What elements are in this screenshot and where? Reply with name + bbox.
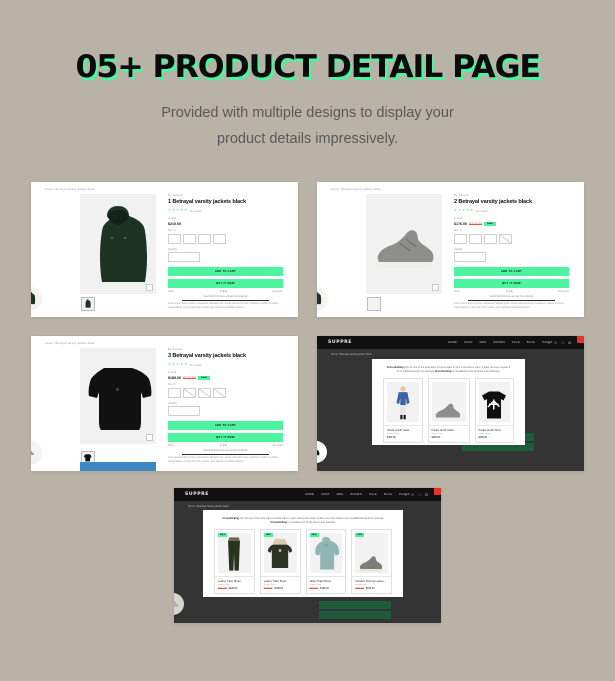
site-dimmed-background: SUPPRE HOME SHOP MEN WOMEN SALE BLOG PAG… bbox=[317, 336, 584, 471]
zoom-icon[interactable] bbox=[432, 284, 439, 291]
add-to-cart-button[interactable]: ADD TO CART bbox=[168, 421, 283, 430]
availability-label: In stock bbox=[168, 217, 283, 220]
product-vendor: Suppre Store bbox=[264, 584, 297, 586]
product-gallery[interactable] bbox=[80, 348, 156, 444]
search-icon[interactable]: ⌕ bbox=[548, 341, 550, 345]
price-original: $210.00 bbox=[355, 587, 364, 590]
product-image bbox=[432, 382, 466, 422]
product-price: $189.00 $210.00 SALE bbox=[168, 376, 283, 380]
pants-green-icon bbox=[222, 535, 246, 573]
heart-icon[interactable]: ♡ bbox=[561, 341, 564, 345]
site-nav[interactable]: HOME SHOP MEN WOMEN SALE BLOG PAGES bbox=[305, 493, 409, 496]
quantity-label: Quantity bbox=[454, 248, 569, 251]
size-guide-link[interactable]: Size guide bbox=[558, 291, 569, 293]
poster-page: 05+ PRODUCT DETAIL PAGE 05+ PRODUCT DETA… bbox=[0, 0, 615, 681]
pdp-layout: Home / Betrayal varsity jackets black By… bbox=[31, 182, 298, 317]
sneaker-gray-icon bbox=[432, 400, 466, 422]
modal-product-card[interactable]: SALE Sneakers Running Leather... Suppre … bbox=[351, 529, 392, 594]
size-option-xl-disabled bbox=[499, 234, 512, 244]
nav-item-home[interactable]: HOME bbox=[305, 493, 314, 496]
status-badge: SALE bbox=[218, 533, 227, 537]
shipping-note: Spend $100.00 more and get free shipping… bbox=[168, 296, 283, 298]
modal-body-3: is bbox=[451, 370, 454, 373]
nav-item-women[interactable]: WOMEN bbox=[350, 493, 362, 496]
breadcrumb[interactable]: Home / Betrayal varsity jackets black bbox=[188, 505, 229, 508]
status-badge: SALE bbox=[310, 533, 319, 537]
price-current: $189.00 bbox=[168, 376, 181, 380]
star-icon: ★ bbox=[184, 363, 187, 367]
mockup-card-3[interactable]: Home / Betrayal varsity jackets black By… bbox=[31, 336, 298, 471]
availability-label: In stock bbox=[454, 217, 569, 220]
price-original: $210.00 bbox=[310, 587, 319, 590]
model-jacket-icon bbox=[392, 384, 414, 422]
modal-product-cards: Hoodie Grooff Yellow Suppre Store $189.0… bbox=[372, 378, 525, 443]
hoodie-dark-green-icon bbox=[317, 290, 323, 306]
site-header: SUPPRE HOME SHOP MEN WOMEN SALE BLOG PAG… bbox=[317, 336, 584, 349]
modal-lead: Crossdocking bbox=[222, 517, 239, 520]
product-price: $189.00 bbox=[479, 436, 511, 439]
product-title: Jacket Trailer Brown bbox=[310, 580, 343, 583]
product-title: Leather Trailer Brown bbox=[218, 580, 251, 583]
nav-item-shop[interactable]: SHOP bbox=[464, 341, 473, 344]
size-option-m-disabled bbox=[183, 388, 196, 398]
add-to-cart-button[interactable]: ADD TO CART bbox=[168, 267, 283, 276]
nav-item-home[interactable]: HOME bbox=[448, 341, 457, 344]
product-price: $210.00 $189.00 bbox=[310, 587, 343, 590]
cart-icon[interactable]: ⛁ bbox=[568, 341, 571, 345]
product-price: $210.00 $189.00 bbox=[264, 587, 297, 590]
product-gallery[interactable] bbox=[366, 194, 442, 294]
size-option-l-disabled bbox=[198, 388, 211, 398]
product-image bbox=[479, 382, 511, 422]
product-meta: Hoodie Grooff Yellow Suppre Store $189.0… bbox=[476, 425, 514, 442]
price-original: $210.00 bbox=[264, 587, 273, 590]
quantity-stepper[interactable] bbox=[454, 252, 486, 262]
product-vendor: Suppre Store bbox=[310, 584, 343, 586]
nav-item-men[interactable]: MEN bbox=[480, 341, 487, 344]
status-badge: SALE bbox=[355, 533, 364, 537]
price-current: $189.00 bbox=[387, 436, 396, 439]
corner-marker bbox=[577, 336, 584, 343]
share-label: Share: bbox=[168, 445, 175, 447]
site-dimmed-background: SUPPRE HOME SHOP MEN WOMEN SALE BLOG PAG… bbox=[174, 488, 441, 623]
modal-product-card[interactable]: Hoodie Grooff Yellow Suppre Store $189.0… bbox=[428, 378, 470, 443]
status-badge: SALE bbox=[198, 376, 210, 380]
user-icon[interactable]: ⚇ bbox=[554, 341, 557, 345]
star-icon: ★ bbox=[180, 363, 183, 367]
social-icons[interactable]: f t p in bbox=[506, 291, 512, 293]
mockup-card-1[interactable]: Home / Betrayal varsity jackets black By… bbox=[31, 182, 298, 317]
buy-now-button[interactable]: BUY IT NOW bbox=[454, 279, 569, 288]
size-options[interactable] bbox=[454, 234, 569, 244]
hoodie-thumb-icon bbox=[82, 298, 93, 309]
search-icon[interactable]: ⌕ bbox=[405, 493, 407, 497]
header-icons[interactable]: ⌕ ⚇ ♡ ⛁ bbox=[405, 493, 428, 497]
social-icons[interactable]: f t p in bbox=[220, 291, 226, 293]
size-option-l[interactable] bbox=[484, 234, 497, 244]
breadcrumb[interactable]: Home / Betrayal varsity jackets black bbox=[45, 342, 95, 345]
product-title: Leather Trailer Brown bbox=[264, 580, 297, 583]
nav-item-sale[interactable]: SALE bbox=[512, 341, 520, 344]
progress-divider bbox=[182, 300, 269, 301]
price-original: $210.00 bbox=[183, 376, 196, 380]
price-current: $189.00 bbox=[274, 587, 283, 590]
review-count: No reviews bbox=[190, 210, 202, 213]
promo-banner[interactable] bbox=[80, 462, 156, 471]
rating[interactable]: ★ ★ ★ ★ ★ No reviews bbox=[168, 209, 283, 213]
sweatshirt-black-icon bbox=[80, 348, 156, 444]
product-title: 3 Betrayal varsity jackets black bbox=[168, 353, 283, 359]
modal-product-card[interactable]: Hoodie Grooff Yellow Suppre Store $189.0… bbox=[383, 378, 423, 443]
star-icon: ★ bbox=[176, 363, 179, 367]
product-price: $189.00 bbox=[387, 436, 419, 439]
star-icon: ★ bbox=[168, 209, 171, 213]
shipping-note: Spend $100.00 more and get free shipping… bbox=[454, 296, 569, 298]
product-info: By Suppre 2 Betrayal varsity jackets bla… bbox=[454, 194, 569, 310]
product-vendor: Suppre Store bbox=[479, 433, 511, 435]
product-meta: Sneakers Running Leather... Suppre Store… bbox=[352, 576, 391, 593]
product-vendor: Suppre Store bbox=[387, 433, 419, 435]
nav-item-sale[interactable]: SALE bbox=[369, 493, 377, 496]
add-to-cart-button[interactable]: ADD TO CART bbox=[454, 267, 569, 276]
product-vendor: By Suppre bbox=[168, 194, 283, 197]
product-description: Lorem ipsum dolor sit amet, consectetur … bbox=[454, 303, 569, 310]
modal-lead-2: Crossdocking bbox=[270, 521, 287, 524]
size-options[interactable] bbox=[168, 234, 283, 244]
product-image bbox=[218, 533, 251, 573]
product-image bbox=[264, 533, 297, 573]
status-badge: SALE bbox=[484, 222, 496, 226]
quantity-label: Quantity bbox=[168, 402, 283, 405]
hoodie-dark-green-icon bbox=[80, 194, 156, 294]
product-meta: Hoodie Grooff Yellow Suppre Store $189.0… bbox=[429, 425, 469, 442]
product-title: Sneakers Running Leather... bbox=[355, 580, 388, 583]
breadcrumb[interactable]: Home / Betrayal varsity jackets black bbox=[331, 353, 372, 356]
star-icon: ★ bbox=[176, 209, 179, 213]
quantity-label: Quantity bbox=[168, 248, 283, 251]
size-option-s[interactable] bbox=[168, 234, 181, 244]
price-current: $189.00 bbox=[366, 587, 375, 590]
buy-now-button[interactable]: BUY IT NOW bbox=[168, 433, 283, 442]
price-current: $189.00 bbox=[229, 587, 238, 590]
product-price: $210.00 $189.00 bbox=[355, 587, 388, 590]
nav-item-shop[interactable]: SHOP bbox=[321, 493, 330, 496]
size-option-s[interactable] bbox=[454, 234, 467, 244]
product-title: 2 Betrayal varsity jackets black bbox=[454, 199, 569, 205]
star-icon: ★ bbox=[454, 209, 457, 213]
star-icon: ★ bbox=[466, 209, 469, 213]
size-option-xl-disabled bbox=[213, 388, 226, 398]
size-guide-link[interactable]: Size guide bbox=[272, 291, 283, 293]
breadcrumb[interactable]: Home / Betrayal varsity jackets black bbox=[331, 188, 381, 191]
modal-lead: Crossdocking bbox=[387, 366, 404, 369]
dimmed-buy-now-button bbox=[319, 611, 391, 619]
price-current: $189.00 bbox=[320, 587, 329, 590]
cart-icon[interactable]: ⛁ bbox=[425, 493, 428, 497]
quantity-stepper[interactable] bbox=[168, 252, 200, 262]
modal-product-card[interactable]: SALE Jacket Trailer Brown Suppre Store bbox=[306, 529, 347, 594]
heart-icon[interactable]: ♡ bbox=[418, 493, 421, 497]
product-image bbox=[387, 382, 419, 422]
product-title: 1 Betrayal varsity jackets black bbox=[168, 199, 283, 205]
hoodie-dark-green-icon bbox=[31, 290, 37, 306]
modal-product-card[interactable]: SALE Leather Trailer Brown Suppre Store bbox=[260, 529, 301, 594]
sneaker-gray-icon bbox=[174, 599, 180, 609]
gallery-thumbnail-1[interactable] bbox=[81, 297, 95, 311]
star-icon: ★ bbox=[168, 363, 171, 367]
product-meta: Leather Trailer Brown Suppre Store $210.… bbox=[261, 576, 300, 593]
product-meta: Hoodie Grooff Yellow Suppre Store $189.0… bbox=[384, 425, 422, 442]
share-label: Share: bbox=[454, 291, 461, 293]
share-row: Share: f t p in Size guide bbox=[168, 291, 283, 293]
price-current: $176.00 bbox=[454, 222, 467, 226]
hoodie-dark-icon bbox=[317, 447, 323, 458]
page-title-text: 05+ PRODUCT DETAIL PAGE bbox=[75, 49, 539, 85]
share-row: Share: f t p in Size guide bbox=[454, 291, 569, 293]
star-icon: ★ bbox=[184, 209, 187, 213]
modal-lead-2: Crossdocking bbox=[435, 370, 452, 373]
product-vendor: Suppre Store bbox=[432, 433, 466, 435]
product-price: $189.00 bbox=[432, 436, 466, 439]
product-meta: Jacket Trailer Brown Suppre Store $210.0… bbox=[307, 576, 346, 593]
modal-body-4: considered to be 20 times more effective… bbox=[455, 370, 501, 373]
price-current: $189.00 bbox=[432, 436, 441, 439]
zoom-icon[interactable] bbox=[146, 434, 153, 441]
nav-item-men[interactable]: MEN bbox=[337, 493, 344, 496]
sneaker-gray-icon bbox=[366, 194, 442, 294]
product-title: Hoodie Grooff Yellow bbox=[432, 429, 466, 432]
shipping-note: Spend $100.00 more and get free shipping… bbox=[168, 450, 283, 452]
size-guide-link[interactable]: Size guide bbox=[272, 445, 283, 447]
modal-product-card[interactable]: SALE Leather Trailer Brown Suppre Store bbox=[214, 529, 255, 594]
nav-item-women[interactable]: WOMEN bbox=[493, 341, 505, 344]
subtitle-line-2: product details impressively. bbox=[0, 126, 615, 152]
page-title: 05+ PRODUCT DETAIL PAGE 05+ PRODUCT DETA… bbox=[0, 52, 615, 83]
zoom-icon[interactable] bbox=[146, 284, 153, 291]
mockup-card-5[interactable]: SUPPRE HOME SHOP MEN WOMEN SALE BLOG PAG… bbox=[174, 488, 441, 623]
size-label: Size: S bbox=[168, 229, 283, 232]
pdp-layout: Home / Betrayal varsity jackets black By… bbox=[31, 336, 298, 471]
modal-description: Crossdocking only for one of the best wa… bbox=[372, 359, 525, 378]
star-icon: ★ bbox=[458, 209, 461, 213]
star-icon: ★ bbox=[470, 209, 473, 213]
product-vendor: By Suppre bbox=[454, 194, 569, 197]
star-icon: ★ bbox=[172, 363, 175, 367]
modal-product-card[interactable]: Hoodie Grooff Yellow Suppre Store $189.0… bbox=[475, 378, 515, 443]
size-option-m[interactable] bbox=[183, 234, 196, 244]
jacket-beige-icon bbox=[266, 535, 294, 573]
modal-body-1: only for one of the best ways to boost s… bbox=[239, 517, 310, 520]
star-icon: ★ bbox=[462, 209, 465, 213]
site-logo[interactable]: SUPPRE bbox=[185, 492, 209, 497]
quantity-stepper[interactable] bbox=[168, 406, 200, 416]
review-count: No reviews bbox=[476, 210, 488, 213]
product-meta: Leather Trailer Brown Suppre Store $210.… bbox=[215, 576, 254, 593]
sneaker-gray-icon bbox=[31, 447, 37, 458]
star-icon: ★ bbox=[180, 209, 183, 213]
modal-body-4: considered to be 20 times more effective… bbox=[290, 521, 336, 524]
review-count: No reviews bbox=[190, 364, 202, 367]
product-vendor: By Suppre bbox=[168, 348, 283, 351]
size-option-xl[interactable] bbox=[213, 234, 226, 244]
mockup-card-4[interactable]: SUPPRE HOME SHOP MEN WOMEN SALE BLOG PAG… bbox=[317, 336, 584, 471]
product-image bbox=[310, 533, 343, 573]
modal-body-1: only for one of the best ways to boost s… bbox=[404, 366, 475, 369]
site-logo[interactable]: SUPPRE bbox=[328, 340, 352, 345]
price-current: $189.00 bbox=[479, 436, 488, 439]
breadcrumb[interactable]: Home / Betrayal varsity jackets black bbox=[45, 188, 95, 191]
tshirt-black-icon bbox=[479, 388, 509, 422]
size-options[interactable] bbox=[168, 388, 283, 398]
social-icons[interactable]: f t p in bbox=[220, 445, 226, 447]
header-icons[interactable]: ⌕ ⚇ ♡ ⛁ bbox=[548, 341, 571, 345]
product-vendor: Suppre Store bbox=[355, 584, 388, 586]
star-icon: ★ bbox=[172, 209, 175, 213]
modal-description: Crossdocking only for one of the best wa… bbox=[203, 510, 403, 529]
nav-item-blog[interactable]: BLOG bbox=[527, 341, 535, 344]
site-nav[interactable]: HOME SHOP MEN WOMEN SALE BLOG PAGES bbox=[448, 341, 552, 344]
hoodie-teal-icon bbox=[312, 537, 340, 573]
modal-body-2: store. It does not even require a lot of… bbox=[310, 517, 383, 520]
subtitle-line-1: Provided with multiple designs to displa… bbox=[161, 105, 454, 121]
dimmed-add-to-cart-button bbox=[319, 601, 391, 609]
share-row: Share: f t p in Size guide bbox=[168, 445, 283, 447]
nav-item-blog[interactable]: BLOG bbox=[384, 493, 392, 496]
progress-divider bbox=[468, 300, 555, 301]
price-original: $210.00 bbox=[469, 222, 482, 226]
rating[interactable]: ★ ★ ★ ★ ★ No reviews bbox=[454, 209, 569, 213]
size-label: Size: S bbox=[454, 229, 569, 232]
size-option-l[interactable] bbox=[198, 234, 211, 244]
user-icon[interactable]: ⚇ bbox=[411, 493, 414, 497]
mockup-card-2[interactable]: Home / Betrayal varsity jackets black By… bbox=[317, 182, 584, 317]
product-info: By Suppre 1 Betrayal varsity jackets bla… bbox=[168, 194, 283, 310]
product-price: $210.00 bbox=[168, 222, 283, 226]
gallery-thumbnail-1[interactable] bbox=[367, 297, 381, 311]
sneaker-gray-icon bbox=[356, 553, 388, 573]
progress-divider bbox=[182, 454, 269, 455]
price-original: $210.00 bbox=[218, 587, 227, 590]
size-option-s[interactable] bbox=[168, 388, 181, 398]
product-title: Hoodie Grooff Yellow bbox=[479, 429, 511, 432]
size-label: Size: S bbox=[168, 383, 283, 386]
page-subtitle: Provided with multiple designs to displa… bbox=[0, 100, 615, 152]
product-image bbox=[355, 533, 388, 573]
product-info: By Suppre 3 Betrayal varsity jackets bla… bbox=[168, 348, 283, 464]
product-vendor: Suppre Store bbox=[218, 584, 251, 586]
product-description: Lorem ipsum dolor sit amet, consectetur … bbox=[168, 457, 283, 464]
crossdocking-modal[interactable]: Crossdocking only for one of the best wa… bbox=[372, 359, 525, 445]
modal-product-cards: SALE Leather Trailer Brown Suppre Store bbox=[203, 529, 403, 594]
crossdocking-modal[interactable]: Crossdocking only for one of the best wa… bbox=[203, 510, 403, 597]
availability-label: In stock bbox=[168, 371, 283, 374]
corner-marker bbox=[434, 488, 441, 495]
product-price: $176.00 $210.00 SALE bbox=[454, 222, 569, 226]
pdp-layout: Home / Betrayal varsity jackets black By… bbox=[317, 182, 584, 317]
product-gallery[interactable] bbox=[80, 194, 156, 294]
rating[interactable]: ★ ★ ★ ★ ★ No reviews bbox=[168, 363, 283, 367]
price-current: $210.00 bbox=[168, 222, 181, 226]
size-option-m[interactable] bbox=[469, 234, 482, 244]
site-header: SUPPRE HOME SHOP MEN WOMEN SALE BLOG PAG… bbox=[174, 488, 441, 501]
product-price: $210.00 $189.00 bbox=[218, 587, 251, 590]
share-label: Share: bbox=[168, 291, 175, 293]
product-title: Hoodie Grooff Yellow bbox=[387, 429, 419, 432]
product-description: Lorem ipsum dolor sit amet, consectetur … bbox=[168, 303, 283, 310]
buy-now-button[interactable]: BUY IT NOW bbox=[168, 279, 283, 288]
status-badge: SALE bbox=[264, 533, 273, 537]
